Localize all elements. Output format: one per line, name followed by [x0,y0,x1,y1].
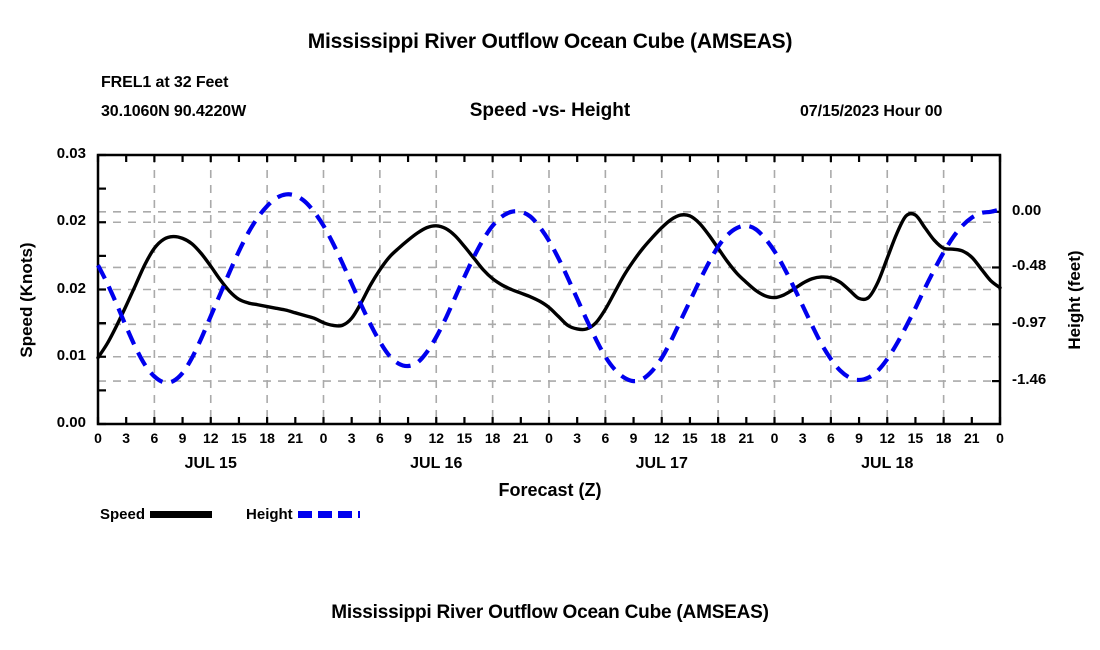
x-tick-label: 15 [902,430,928,446]
x-tick-label: 21 [733,430,759,446]
x-tick-label: 6 [141,430,167,446]
x-tick-label: 9 [846,430,872,446]
x-tick-label: 6 [592,430,618,446]
x-tick-label: 6 [818,430,844,446]
x-tick-label: 9 [621,430,647,446]
x-day-label: JUL 18 [827,455,947,473]
x-tick-label: 3 [339,430,365,446]
x-tick-label: 6 [367,430,393,446]
x-tick-label: 0 [536,430,562,446]
y-tick-label-left: 0.01 [16,347,86,364]
footer-title: Mississippi River Outflow Ocean Cube (AM… [0,602,1100,624]
y-tick-label-left: 0.02 [16,280,86,297]
y-tick-label-right: 0.00 [1012,202,1082,219]
y-tick-label-left: 0.00 [16,414,86,431]
x-tick-label: 18 [254,430,280,446]
x-tick-label: 0 [762,430,788,446]
x-tick-label: 21 [508,430,534,446]
legend-label-speed: Speed [100,506,145,523]
x-tick-label: 3 [113,430,139,446]
x-day-label: JUL 16 [376,455,496,473]
x-tick-label: 15 [451,430,477,446]
y-tick-label-left: 0.03 [16,145,86,162]
x-tick-label: 15 [677,430,703,446]
legend-item-speed: Speed [100,506,212,523]
x-tick-label: 3 [564,430,590,446]
y-tick-label-right: -0.97 [1012,314,1082,331]
y-tick-label-right: -1.46 [1012,371,1082,388]
x-tick-label: 15 [226,430,252,446]
x-tick-label: 18 [480,430,506,446]
legend-swatch-speed-icon [150,511,212,518]
chart-legend: Speed Height [100,506,360,523]
x-tick-label: 12 [423,430,449,446]
y-tick-label-right: -0.48 [1012,257,1082,274]
x-tick-label: 3 [790,430,816,446]
x-tick-label: 21 [282,430,308,446]
legend-item-height: Height [246,506,360,523]
x-tick-label: 18 [705,430,731,446]
x-tick-label: 21 [959,430,985,446]
x-tick-label: 18 [931,430,957,446]
chart-plot-area [0,0,1100,650]
x-tick-label: 9 [395,430,421,446]
x-tick-label: 12 [198,430,224,446]
x-tick-label: 12 [874,430,900,446]
x-tick-label: 0 [85,430,111,446]
x-tick-label: 0 [987,430,1013,446]
y-tick-label-left: 0.02 [16,212,86,229]
x-tick-label: 12 [649,430,675,446]
x-day-label: JUL 15 [151,455,271,473]
legend-label-height: Height [246,506,293,523]
x-tick-label: 9 [170,430,196,446]
x-day-label: JUL 17 [602,455,722,473]
x-tick-label: 0 [311,430,337,446]
legend-swatch-height-icon [298,511,360,518]
